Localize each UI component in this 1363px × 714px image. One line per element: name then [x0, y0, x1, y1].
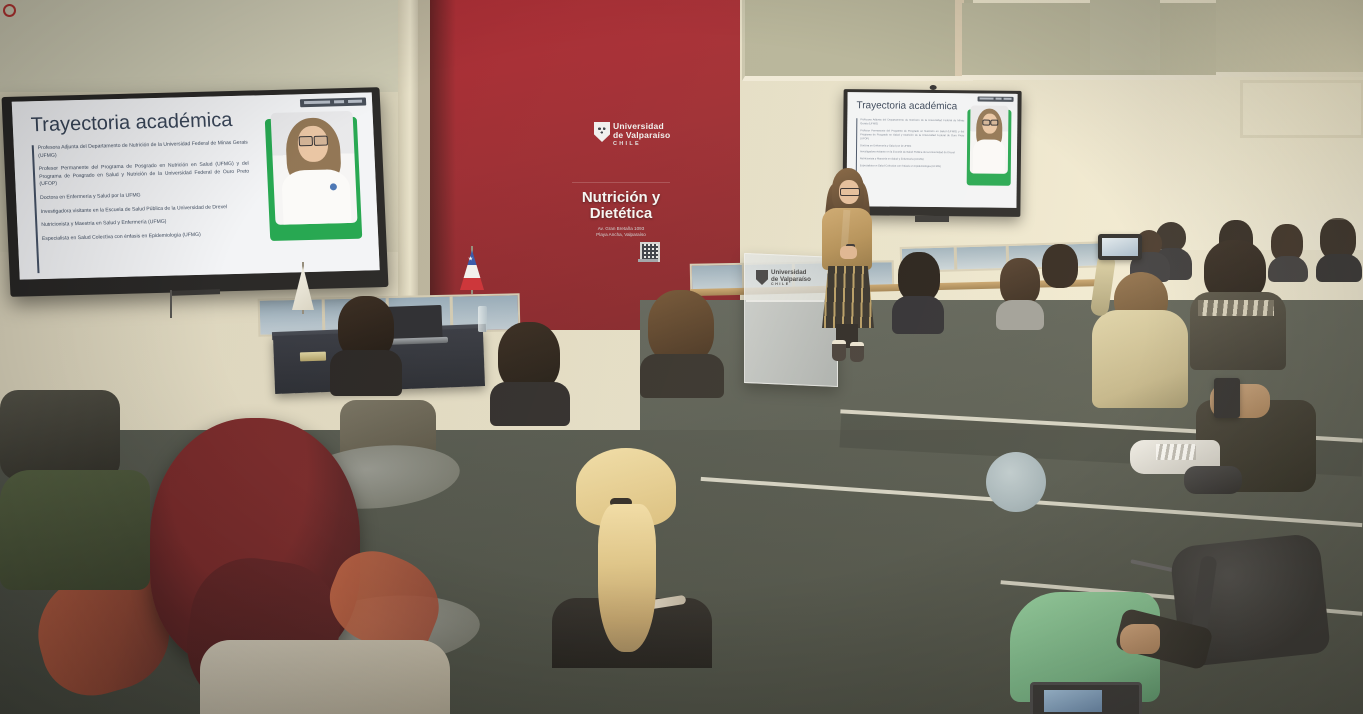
audience-member [330, 296, 402, 392]
cushion [986, 452, 1046, 512]
slide-bullet-secondary: Doctora en Enfermería y Salud por la UFM… [860, 144, 964, 149]
audience-member [1190, 240, 1286, 370]
person-torso [330, 350, 402, 396]
slide-portrait-photo [270, 111, 357, 225]
foreground-jacket [0, 470, 150, 590]
banner-title-line2: Dietética [590, 205, 653, 222]
audience-member [640, 290, 724, 394]
person-hair [898, 252, 940, 302]
slide-bullet: Profesor Permanente del Programa de Posg… [39, 161, 250, 189]
person-hair [1000, 258, 1040, 306]
monitor-camera-icon [930, 85, 937, 90]
lectern-logo-line3: CHILE [771, 282, 790, 286]
lectern-university-logo: Universidad de Valparaíso CHILE [756, 268, 820, 286]
person-hair [648, 290, 714, 364]
left-wall-upper-panel [0, 0, 400, 95]
person-cardigan [1092, 310, 1188, 408]
university-crest-icon [594, 122, 610, 142]
slide-bullet-secondary: Nutricionista y Maestría en Salud y Enfe… [860, 158, 964, 163]
acoustic-panel-left [742, 0, 973, 81]
person-torso [996, 300, 1044, 330]
window-mullion [954, 247, 958, 269]
person-torso [490, 382, 570, 426]
presenter-glasses-icon [840, 188, 860, 196]
audience-member [996, 258, 1044, 328]
portrait-glasses-left [299, 136, 313, 146]
presentation-toolbar-secondary[interactable] [978, 96, 1014, 101]
slide-bullet: Especialista en Salud Colectiva con énfa… [42, 230, 252, 243]
university-crest-icon [756, 270, 768, 285]
slide-bullet: Nutricionista y Maestría en Salud y Enfe… [41, 217, 251, 230]
person-torso [640, 354, 724, 398]
person-scarf [1198, 300, 1274, 316]
portrait-glasses-right [990, 120, 998, 126]
banner-title-line1: Nutrición y [582, 189, 660, 206]
portrait-labcoat [281, 169, 352, 225]
presenter-boot-right [850, 342, 864, 362]
person-ponytail [598, 504, 656, 652]
smartphone[interactable] [1214, 378, 1240, 418]
audience-member-with-tablet [1000, 578, 1200, 714]
presenter-hands [840, 246, 857, 259]
audience-member [490, 322, 570, 422]
table-nameplate [300, 352, 326, 362]
red-panel-shadow [430, 0, 456, 330]
acoustic-panel-right [1216, 0, 1363, 77]
banner-divider [572, 182, 670, 183]
smartphone-screen [1102, 238, 1138, 256]
presenter-boot-left [832, 340, 846, 361]
wall-column-shadow [418, 0, 430, 330]
person-torso [1316, 254, 1362, 282]
auditorium-scene: Trayectoria académica Profesora Adjunta … [0, 0, 1363, 714]
slide-bullet-secondary: Profesora Adjunta del Departamento de Nu… [860, 118, 964, 127]
portrait-glasses-left [982, 120, 990, 126]
audience-member [1038, 244, 1082, 304]
sneaker-stripes [1156, 444, 1196, 460]
person-hair [1042, 244, 1078, 288]
banner-qr-caption [638, 259, 658, 262]
slide-main: Trayectoria académica Profesora Adjunta … [12, 92, 380, 279]
monitor-mount [915, 216, 949, 222]
foreground-person-blonde [560, 448, 690, 668]
person-raised-arm [1090, 253, 1116, 317]
person-torso [892, 296, 944, 334]
audience-member-shoes [1130, 430, 1240, 500]
lectern-logo-line1: Universidad [771, 269, 806, 276]
audience-member [1316, 218, 1362, 280]
banner-address-line1: Av. Gran Bretaña 1093 [598, 226, 645, 231]
audience-member-photographer [1064, 236, 1204, 406]
water-bottle [478, 306, 487, 332]
banner-program-title: Nutrición y Dietética [572, 190, 670, 222]
slide-title-secondary: Trayectoria académica [856, 100, 957, 112]
banner-address: Av. Gran Bretaña 1093 Playa Ancha, Valpa… [572, 226, 670, 238]
foreground-person-shoulder [0, 390, 120, 480]
slide-bullet: Profesora Adjunta del Departamento de Nu… [38, 140, 249, 161]
tablet-screen [1044, 690, 1102, 712]
wall-column [398, 0, 420, 330]
presentation-toolbar[interactable] [300, 98, 366, 108]
portrait-labcoat [973, 139, 1005, 173]
slide-bullet: Doctora en Enfermería y Salud por la UFM… [40, 190, 250, 203]
slide-title: Trayectoria académica [30, 109, 233, 137]
main-projection-screen: Trayectoria académica Profesora Adjunta … [1, 87, 388, 297]
banner-address-line2: Playa Ancha, Valparaíso [596, 232, 646, 237]
wall-corner-block [1090, 0, 1160, 70]
foreground-person-scarf [200, 640, 450, 714]
main-screen-surface: Trayectoria académica Profesora Adjunta … [12, 92, 380, 279]
presenter [812, 168, 878, 358]
banner-university-line3: CHILE [613, 140, 641, 149]
wall-recessed-frame [1240, 80, 1363, 138]
slide-bullet-secondary: Profesor Permanente del Programa de Posg… [860, 129, 964, 142]
window-mullion [322, 299, 326, 333]
presenter-skirt [822, 266, 874, 328]
screen-cable [170, 290, 172, 318]
slide-bullet: Investigadora visitante en la Escuela de… [41, 203, 251, 216]
person-shoe [1184, 466, 1242, 494]
portrait-glasses-right [314, 136, 328, 146]
person-hand [1120, 624, 1160, 654]
slide-bullet-secondary: Investigadora visitante en la Escuela de… [860, 151, 964, 156]
audience-member [892, 252, 944, 332]
banner-university-line2: de Valparaíso [613, 131, 670, 140]
banner-university-logo: Universidad de Valparaíso CHILE [594, 120, 646, 144]
slide-portrait-photo-secondary [970, 105, 1009, 173]
